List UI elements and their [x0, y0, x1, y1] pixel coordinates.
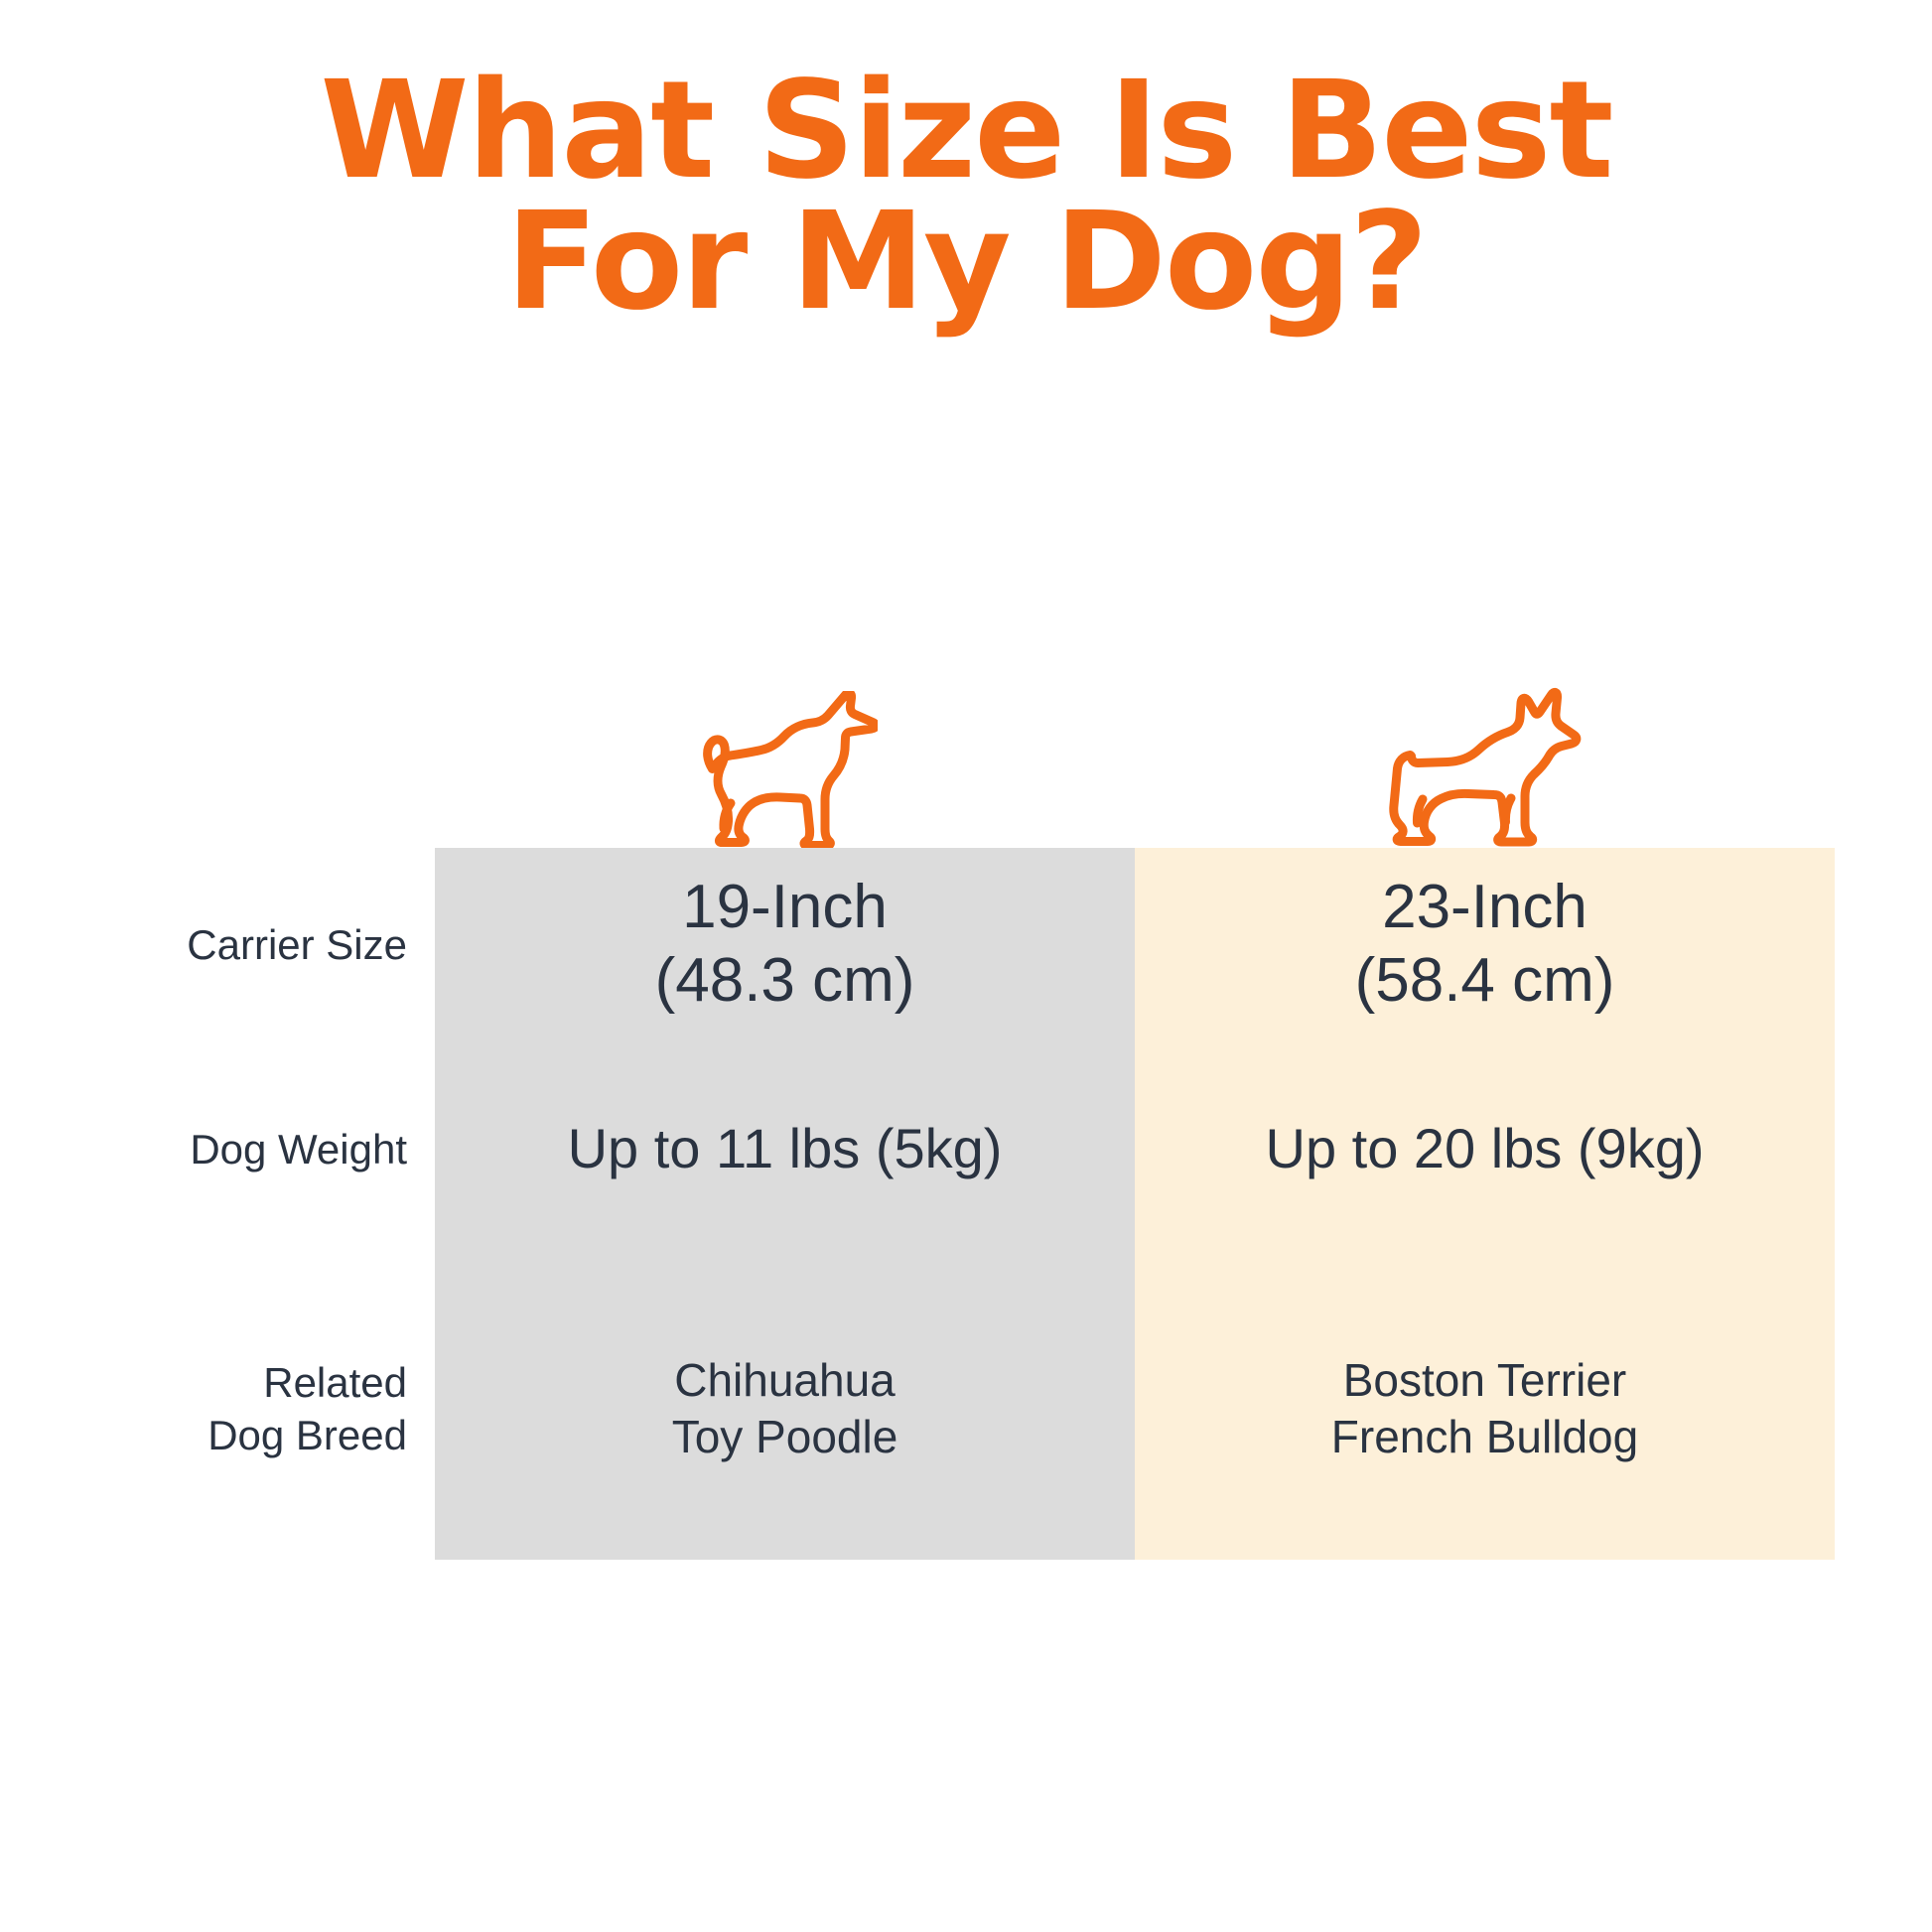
cell-carrier-size-23-inch: 23-Inch (58.4 cm) [1135, 848, 1835, 1040]
cell-dog-weight-19-inch: Up to 11 lbs (5kg) [435, 1040, 1135, 1257]
row-label-related-dog-breed: Related Dog Breed [0, 1257, 435, 1560]
cell-dog-weight-23-inch: Up to 20 lbs (9kg) [1135, 1040, 1835, 1257]
chihuahua-dog-icon [693, 691, 878, 848]
page-title: What Size Is Best For My Dog? [0, 66, 1932, 328]
row-spacer-carrier-size [1835, 848, 1932, 1040]
cell-carrier-size-19-inch: 19-Inch (48.3 cm) [435, 848, 1135, 1040]
dog-icon-cell-medium [1135, 625, 1835, 848]
row-spacer-dog-weight [1835, 1040, 1932, 1257]
cell-related-dog-breed-19-inch: Chihuahua Toy Poodle [435, 1257, 1135, 1560]
dog-icon-cell-small [435, 625, 1135, 848]
row-label-carrier-size: Carrier Size [0, 848, 435, 1040]
page-title-line-1: What Size Is Best [0, 66, 1932, 197]
row-label-dog-weight: Dog Weight [0, 1040, 435, 1257]
cell-related-dog-breed-23-inch: Boston Terrier French Bulldog [1135, 1257, 1835, 1560]
dog-icon-row [435, 625, 1835, 848]
comparison-table: Carrier Size 19-Inch (48.3 cm) 23-Inch (… [0, 848, 1932, 1560]
french-bulldog-dog-icon [1388, 687, 1583, 848]
page-title-line-2: For My Dog? [0, 197, 1932, 328]
row-spacer-related-dog-breed [1835, 1257, 1932, 1560]
